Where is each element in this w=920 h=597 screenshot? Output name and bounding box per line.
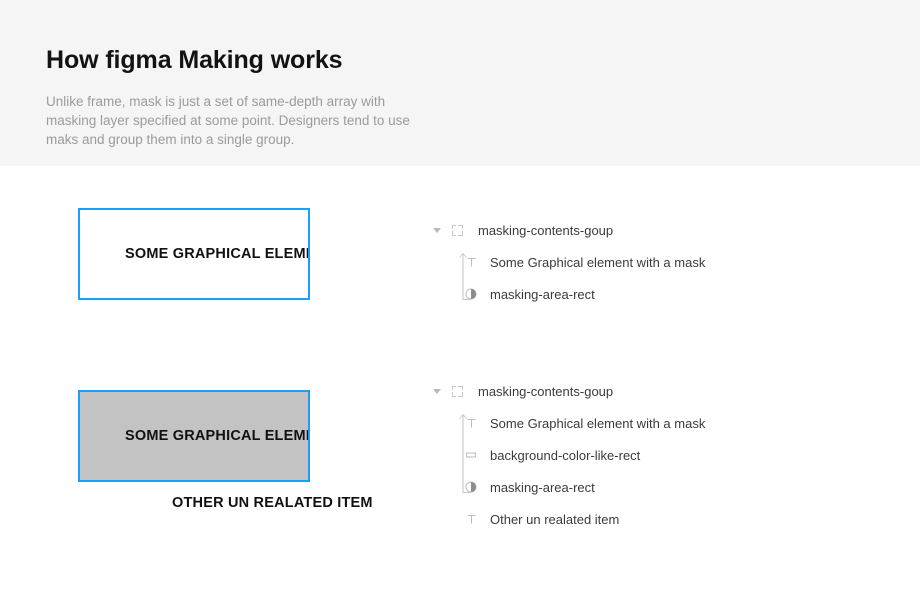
chevron-down-icon[interactable] [428,389,446,394]
unrelated-item-label: OTHER UN REALATED ITEM [172,495,373,511]
layer-tree-two: masking-contents-goup Some Graphical ele… [428,375,705,535]
masked-graphic-label-one: SOME GRAPHICAL ELEMENT WITH A MASK [125,246,310,262]
layer-label: Some Graphical element with a mask [482,416,705,431]
layer-row-rectangle[interactable]: background-color-like-rect [428,439,705,471]
mask-layer-icon [460,481,482,493]
layer-label: masking-contents-goup [468,223,613,238]
layer-row-text[interactable]: Some Graphical element with a mask [428,246,705,278]
rectangle-layer-icon [460,449,482,461]
layer-label: background-color-like-rect [482,448,640,463]
layer-row-group[interactable]: masking-contents-goup [428,375,705,407]
page-title: How figma Making works [46,46,342,75]
chevron-down-icon[interactable] [428,228,446,233]
layer-row-unrelated[interactable]: Other un realated item [428,503,705,535]
canvas-area: SOME GRAPHICAL ELEMENT WITH A MASK SOME … [0,166,920,597]
mask-layer-icon [460,288,482,300]
layer-label: masking-area-rect [482,480,595,495]
masking-preview-box-two: SOME GRAPHICAL ELEMENT WITH A MASK [78,390,310,482]
masked-graphic-label-two: SOME GRAPHICAL ELEMENT WITH A MASK [125,428,310,444]
layer-row-text[interactable]: Some Graphical element with a mask [428,407,705,439]
layer-row-mask[interactable]: masking-area-rect [428,278,705,310]
group-frame-icon [446,386,468,397]
text-layer-icon [460,418,482,429]
header-band: How figma Making works Unlike frame, mas… [0,0,920,166]
group-frame-icon [446,225,468,236]
layer-label: Other un realated item [482,512,619,527]
layer-row-mask[interactable]: masking-area-rect [428,471,705,503]
layer-label: masking-area-rect [482,287,595,302]
text-layer-icon [460,257,482,268]
layer-label: masking-contents-goup [468,384,613,399]
text-layer-icon [460,514,482,525]
layer-label: Some Graphical element with a mask [482,255,705,270]
page-description: Unlike frame, mask is just a set of same… [46,92,438,149]
layer-tree-one: masking-contents-goup Some Graphical ele… [428,214,705,310]
layer-row-group[interactable]: masking-contents-goup [428,214,705,246]
masking-preview-box-one: SOME GRAPHICAL ELEMENT WITH A MASK [78,208,310,300]
